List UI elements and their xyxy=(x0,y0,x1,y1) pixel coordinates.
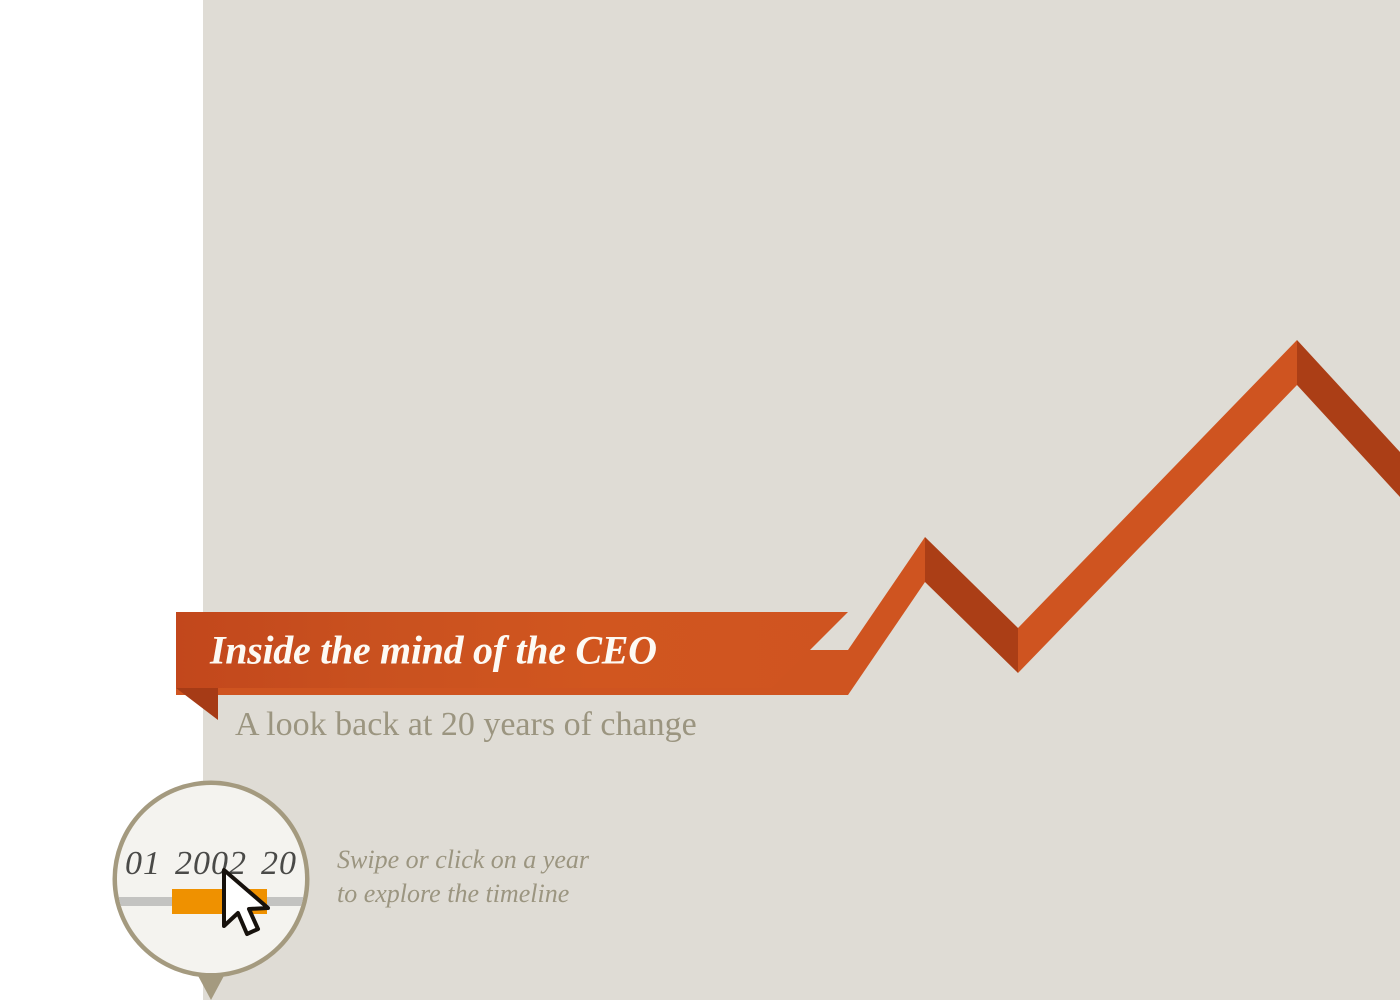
ribbon-segment xyxy=(848,537,925,695)
instruction-line-1: Swipe or click on a year xyxy=(337,843,589,877)
ribbon-segment xyxy=(1018,340,1297,673)
mouse-pointer-icon xyxy=(220,868,278,940)
title-banner: Inside the mind of the CEO xyxy=(176,612,848,688)
ribbon-segment xyxy=(1297,340,1400,497)
page-title: Inside the mind of the CEO xyxy=(210,627,657,674)
ribbon-segment xyxy=(925,537,1018,673)
instruction-line-2: to explore the timeline xyxy=(337,877,589,911)
infographic-cover: Inside the mind of the CEO A look back a… xyxy=(0,0,1400,1000)
timeline-magnifier[interactable]: 01200220 xyxy=(108,776,314,1000)
timeline-year-prev[interactable]: 01 xyxy=(125,845,161,882)
subtitle: A look back at 20 years of change xyxy=(235,706,697,744)
instruction-text: Swipe or click on a year to explore the … xyxy=(337,843,589,911)
